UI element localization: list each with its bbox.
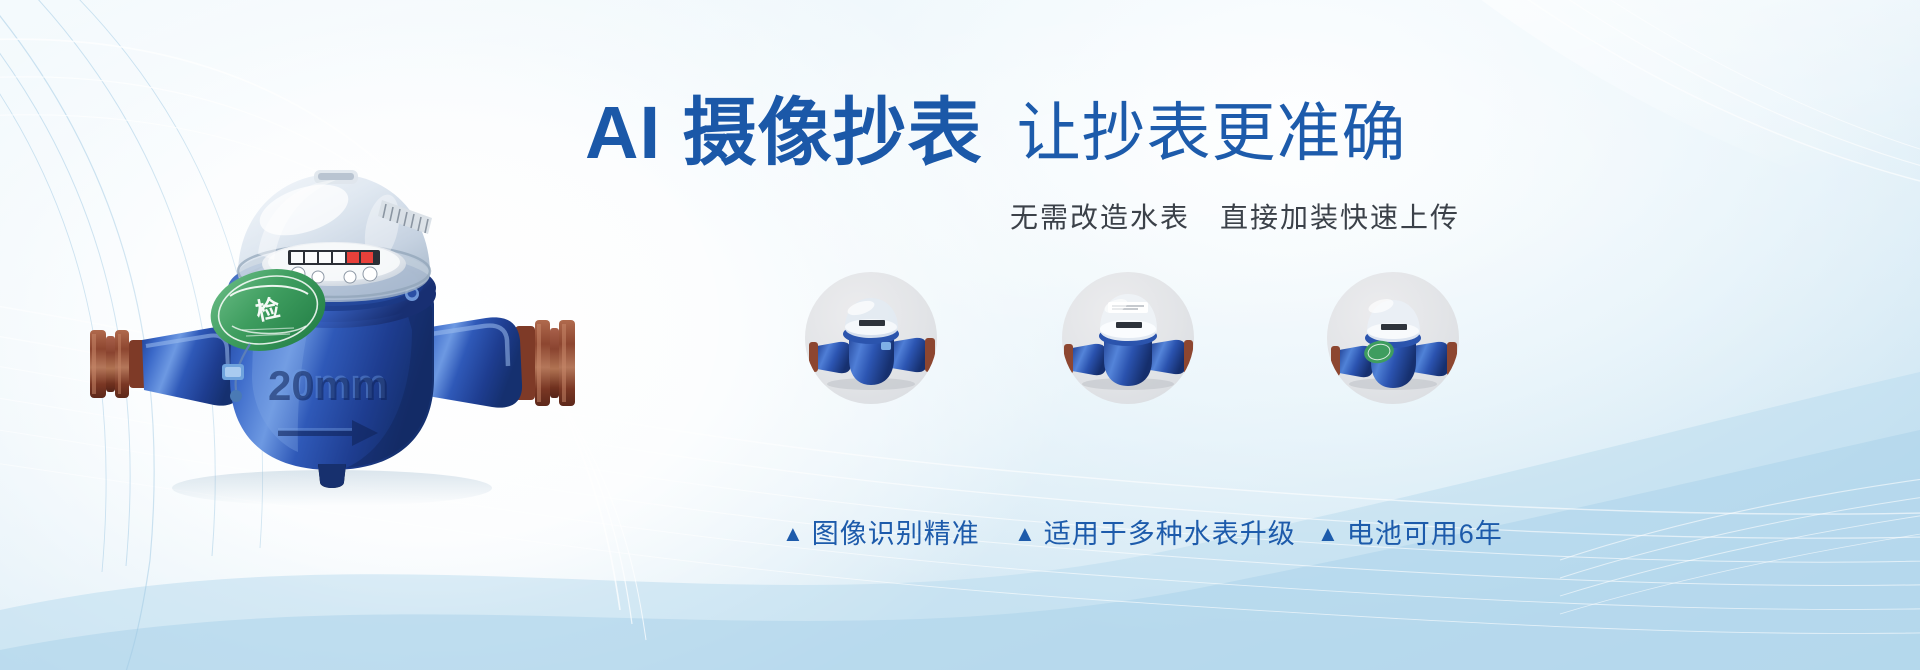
headline-main: AI 摄像抄表 — [585, 91, 983, 174]
feature-thumbnails — [762, 272, 1892, 472]
product-image-main: N&F N&F 20mm 20mm 20mm — [82, 78, 582, 508]
feature-captions: ▲图像识别精准 ▲适用于多种水表升级 ▲电池可用6年 — [762, 512, 1902, 556]
left-connector — [90, 330, 149, 398]
headline-block: AI 摄像抄表让抄表更准确 无需改造水表 直接加装快速上传 — [585, 96, 1885, 236]
thumbnail-circle-1 — [805, 272, 937, 404]
svg-text:20mm: 20mm — [268, 362, 389, 409]
triangle-marker-icon: ▲ — [1014, 521, 1037, 546]
meter-thumb-illustration-3 — [1327, 272, 1459, 404]
thumbnail-circle-3 — [1327, 272, 1459, 404]
feature-caption-1: ▲图像识别精准 — [782, 512, 980, 551]
feature-caption-3: ▲电池可用6年 — [1317, 512, 1503, 551]
feature-thumbnail-1[interactable] — [805, 272, 937, 404]
triangle-marker-icon: ▲ — [782, 521, 805, 546]
headline-secondary: 让抄表更准确 — [1017, 97, 1407, 169]
right-connector — [515, 320, 575, 406]
feature-caption-label-1: 图像识别精准 — [812, 519, 980, 549]
feature-thumbnail-3[interactable] — [1327, 272, 1459, 404]
water-meter-illustration: N&F N&F 20mm 20mm 20mm — [82, 78, 582, 508]
feature-caption-label-3: 电池可用6年 — [1347, 519, 1503, 549]
feature-caption-2: ▲适用于多种水表升级 — [1014, 512, 1296, 551]
subtitle: 无需改造水表 直接加装快速上传 — [585, 196, 1885, 236]
promo-banner: N&F N&F 20mm 20mm 20mm — [0, 0, 1920, 670]
feature-caption-label-2: 适用于多种水表升级 — [1044, 519, 1296, 549]
headline: AI 摄像抄表让抄表更准确 — [585, 96, 1885, 170]
meter-thumb-illustration-1 — [805, 272, 937, 404]
meter-thumb-illustration-2 — [1062, 272, 1194, 404]
thumbnail-circle-2 — [1062, 272, 1194, 404]
feature-thumbnail-2[interactable] — [1062, 272, 1194, 404]
triangle-marker-icon: ▲ — [1317, 521, 1340, 546]
